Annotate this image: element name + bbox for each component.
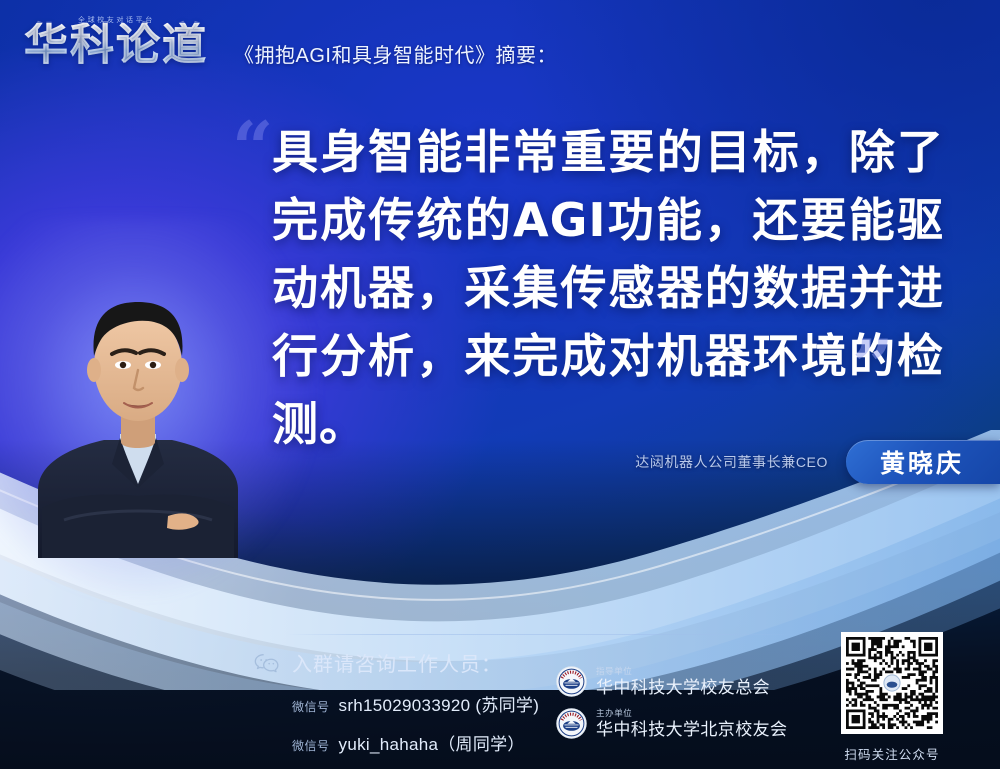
portrait-image (28, 258, 248, 558)
wechat-label-1: 微信号 (292, 698, 330, 715)
organizer-kind-2: 主办单位 (596, 709, 787, 718)
poster-canvas: 全球校友对话平台 华科论道 《拥抱AGI和具身智能时代》摘要： (0, 0, 1000, 769)
footer-heading: 入群请咨询工作人员： (292, 648, 502, 677)
organizer-kind-1: 指导单位 (596, 667, 770, 676)
page-title: 《拥抱AGI和具身智能时代》摘要： (234, 39, 557, 68)
quote-text: 具身智能非常重要的目标，除了完成传统的AGI功能，还要能驱动机器，采集传感器的数… (272, 118, 944, 458)
footer-divider (286, 634, 802, 635)
wechat-value-1[interactable]: srh15029033920 (苏同学) (339, 691, 540, 716)
qr-code-icon (846, 637, 938, 729)
qr-caption: 扫码关注公众号 (834, 744, 950, 763)
organizer-list: 指导单位 华中科技大学校友总会 主办单位 华中科技大学北京校友会 (556, 666, 846, 750)
organizer-item-guidance: 指导单位 华中科技大学校友总会 (556, 666, 846, 697)
hust-seal-icon (556, 708, 587, 739)
qr-code[interactable] (841, 632, 943, 734)
organizer-name-1: 华中科技大学校友总会 (596, 679, 770, 696)
organizer-name-2: 华中科技大学北京校友会 (596, 721, 787, 738)
logo-wordmark: 华科论道 (24, 23, 208, 67)
hust-seal-icon (556, 666, 587, 697)
wechat-value-2[interactable]: yuki_hahaha（周同学） (339, 730, 525, 755)
speaker-portrait (28, 258, 248, 558)
header-bar: 全球校友对话平台 华科论道 《拥抱AGI和具身智能时代》摘要： (0, 0, 1000, 92)
speaker-role: 达闼机器人公司董事长兼CEO (635, 452, 828, 472)
attribution: 达闼机器人公司董事长兼CEO 黄晓庆 (635, 440, 1000, 484)
speaker-name-badge: 黄晓庆 (846, 440, 1000, 484)
quote-open-mark: “ (232, 112, 273, 184)
wechat-icon (254, 653, 280, 673)
quote-close-mark: ” (852, 330, 893, 402)
wechat-label-2: 微信号 (292, 737, 330, 754)
qr-block: 扫码关注公众号 (834, 632, 950, 763)
organizer-item-host: 主办单位 华中科技大学北京校友会 (556, 708, 846, 739)
brand-logo[interactable]: 全球校友对话平台 华科论道 (24, 15, 216, 77)
